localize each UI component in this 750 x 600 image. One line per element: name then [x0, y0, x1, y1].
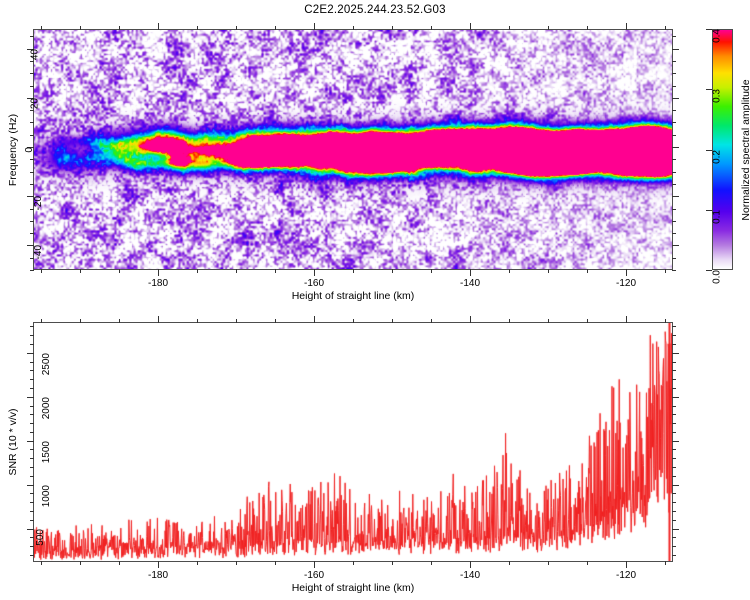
y-minor-tick: [30, 467, 34, 468]
x-major-tick: [626, 316, 627, 323]
x-minor-tick: [41, 561, 42, 565]
x-tick-label: -120: [616, 278, 636, 289]
y-minor-tick: [672, 258, 676, 259]
x-minor-tick: [509, 26, 510, 30]
y-tick-label: 0: [24, 147, 35, 153]
y-minor-tick: [672, 379, 676, 380]
y-minor-tick: [672, 209, 676, 210]
y-tick-label: -20: [33, 196, 44, 210]
y-minor-tick: [30, 61, 34, 62]
x-minor-tick: [431, 269, 432, 273]
x-major-tick: [314, 316, 315, 323]
x-minor-tick: [236, 319, 237, 323]
x-minor-tick: [392, 26, 393, 30]
y-major-tick: [672, 245, 679, 246]
x-minor-tick: [431, 26, 432, 30]
x-minor-tick: [587, 269, 588, 273]
y-major-tick: [27, 441, 34, 442]
x-minor-tick: [392, 319, 393, 323]
x-tick-label: -140: [460, 570, 480, 581]
y-major-tick: [672, 441, 679, 442]
y-minor-tick: [672, 502, 676, 503]
x-minor-tick: [236, 269, 237, 273]
x-minor-tick: [41, 319, 42, 323]
y-minor-tick: [30, 184, 34, 185]
y-minor-tick: [30, 122, 34, 123]
x-minor-tick: [431, 319, 432, 323]
y-minor-tick: [672, 423, 676, 424]
y-minor-tick: [30, 73, 34, 74]
x-minor-tick: [275, 319, 276, 323]
y-minor-tick: [672, 406, 676, 407]
y-minor-tick: [672, 122, 676, 123]
y-minor-tick: [30, 414, 34, 415]
y-minor-tick: [30, 511, 34, 512]
x-minor-tick: [665, 269, 666, 273]
y-minor-tick: [30, 335, 34, 336]
y-minor-tick: [672, 555, 676, 556]
x-major-tick: [158, 561, 159, 568]
y-minor-tick: [672, 86, 676, 87]
x-minor-tick: [587, 561, 588, 565]
x-major-tick: [626, 23, 627, 30]
x-minor-tick: [548, 26, 549, 30]
y-tick-label: 2000: [41, 397, 52, 419]
y-minor-tick: [672, 432, 676, 433]
x-minor-tick: [587, 26, 588, 30]
y-major-tick: [672, 147, 679, 148]
y-minor-tick: [672, 476, 676, 477]
y-minor-tick: [672, 370, 676, 371]
x-minor-tick: [665, 26, 666, 30]
y-minor-tick: [672, 537, 676, 538]
x-minor-tick: [548, 319, 549, 323]
y-minor-tick: [30, 159, 34, 160]
y-minor-tick: [672, 335, 676, 336]
y-tick-label: 1500: [41, 441, 52, 463]
x-minor-tick: [275, 269, 276, 273]
x-tick-label: -160: [304, 278, 324, 289]
y-major-tick: [672, 98, 679, 99]
y-minor-tick: [672, 61, 676, 62]
x-minor-tick: [197, 561, 198, 565]
x-minor-tick: [197, 319, 198, 323]
x-minor-tick: [119, 269, 120, 273]
y-minor-tick: [30, 110, 34, 111]
y-minor-tick: [30, 172, 34, 173]
x-major-tick: [470, 316, 471, 323]
y-minor-tick: [672, 270, 676, 271]
x-tick-label: -180: [148, 278, 168, 289]
y-minor-tick: [30, 406, 34, 407]
y-minor-tick: [672, 73, 676, 74]
x-minor-tick: [275, 26, 276, 30]
x-minor-tick: [548, 561, 549, 565]
x-minor-tick: [353, 319, 354, 323]
y-minor-tick: [30, 370, 34, 371]
colorbar-tick-label: 0.3: [711, 89, 722, 103]
y-minor-tick: [672, 344, 676, 345]
x-major-tick: [626, 561, 627, 568]
x-major-tick: [314, 561, 315, 568]
y-tick-label: 2500: [41, 353, 52, 375]
y-minor-tick: [30, 362, 34, 363]
y-tick-label: 40: [30, 49, 41, 60]
colorbar-tick-label: 0.0: [711, 270, 722, 284]
x-minor-tick: [197, 269, 198, 273]
snr-trace: [34, 323, 672, 561]
colorbar-tick-label: 0.4: [711, 29, 722, 43]
y-minor-tick: [672, 546, 676, 547]
spectrogram-panel: [33, 29, 673, 270]
x-major-tick: [158, 269, 159, 276]
y-minor-tick: [672, 326, 676, 327]
y-major-tick: [672, 397, 679, 398]
y-minor-tick: [672, 233, 676, 234]
y-minor-tick: [672, 493, 676, 494]
x-minor-tick: [80, 269, 81, 273]
y-minor-tick: [672, 159, 676, 160]
x-minor-tick: [80, 319, 81, 323]
y-axis-title: Frequency (Hz): [7, 113, 19, 185]
x-major-tick: [158, 316, 159, 323]
x-minor-tick: [548, 269, 549, 273]
y-major-tick: [672, 485, 679, 486]
y-minor-tick: [672, 184, 676, 185]
x-minor-tick: [197, 26, 198, 30]
x-minor-tick: [587, 319, 588, 323]
x-minor-tick: [80, 26, 81, 30]
colorbar-label: Normalized spectral amplitude: [740, 79, 750, 220]
y-minor-tick: [672, 110, 676, 111]
y-minor-tick: [30, 449, 34, 450]
y-minor-tick: [672, 458, 676, 459]
y-minor-tick: [30, 432, 34, 433]
x-major-tick: [314, 23, 315, 30]
y-minor-tick: [672, 135, 676, 136]
y-minor-tick: [30, 36, 34, 37]
y-minor-tick: [30, 270, 34, 271]
y-tick-label: 1000: [41, 485, 52, 507]
y-minor-tick: [672, 362, 676, 363]
y-minor-tick: [672, 221, 676, 222]
x-minor-tick: [392, 561, 393, 565]
x-minor-tick: [41, 269, 42, 273]
figure-root: C2E2.2025.244.23.52.G03 -180-160-140-120…: [0, 0, 750, 600]
x-minor-tick: [509, 561, 510, 565]
y-minor-tick: [30, 520, 34, 521]
y-minor-tick: [672, 520, 676, 521]
x-tick-label: -120: [616, 570, 636, 581]
y-tick-label: 500: [35, 529, 46, 546]
x-tick-label: -180: [148, 570, 168, 581]
spectrogram-image: [34, 30, 672, 269]
x-major-tick: [470, 561, 471, 568]
x-minor-tick: [392, 269, 393, 273]
x-minor-tick: [275, 561, 276, 565]
y-minor-tick: [30, 233, 34, 234]
x-minor-tick: [353, 269, 354, 273]
y-minor-tick: [30, 546, 34, 547]
x-minor-tick: [119, 561, 120, 565]
y-major-tick: [27, 353, 34, 354]
y-minor-tick: [30, 388, 34, 389]
x-minor-tick: [119, 26, 120, 30]
y-major-tick: [672, 49, 679, 50]
y-minor-tick: [672, 467, 676, 468]
x-minor-tick: [665, 561, 666, 565]
x-minor-tick: [665, 319, 666, 323]
y-axis-title: SNR (10 * v/v): [7, 408, 19, 475]
y-major-tick: [27, 529, 34, 530]
y-minor-tick: [30, 86, 34, 87]
y-major-tick: [672, 353, 679, 354]
x-major-tick: [470, 269, 471, 276]
colorbar-tick-label: 0.2: [711, 150, 722, 164]
snr-panel: [33, 322, 673, 562]
x-minor-tick: [41, 26, 42, 30]
page-title: C2E2.2025.244.23.52.G03: [0, 4, 750, 16]
y-minor-tick: [30, 458, 34, 459]
y-minor-tick: [30, 135, 34, 136]
x-major-tick: [314, 269, 315, 276]
y-minor-tick: [30, 379, 34, 380]
y-minor-tick: [672, 172, 676, 173]
y-major-tick: [27, 397, 34, 398]
x-minor-tick: [509, 319, 510, 323]
x-major-tick: [626, 269, 627, 276]
y-minor-tick: [672, 388, 676, 389]
y-major-tick: [672, 529, 679, 530]
x-major-tick: [470, 23, 471, 30]
x-tick-label: -160: [304, 570, 324, 581]
colorbar-tick-label: 0.1: [711, 210, 722, 224]
x-minor-tick: [509, 269, 510, 273]
x-minor-tick: [236, 26, 237, 30]
y-minor-tick: [30, 344, 34, 345]
x-minor-tick: [353, 26, 354, 30]
y-major-tick: [27, 485, 34, 486]
y-minor-tick: [30, 423, 34, 424]
x-minor-tick: [353, 561, 354, 565]
y-minor-tick: [30, 502, 34, 503]
y-minor-tick: [30, 326, 34, 327]
y-tick-label: -40: [33, 245, 44, 259]
y-minor-tick: [672, 414, 676, 415]
x-minor-tick: [236, 561, 237, 565]
x-axis-title: Height of straight line (km): [292, 290, 415, 302]
y-minor-tick: [30, 476, 34, 477]
y-major-tick: [672, 196, 679, 197]
x-minor-tick: [80, 561, 81, 565]
y-tick-label: 20: [30, 98, 41, 109]
y-minor-tick: [30, 221, 34, 222]
y-minor-tick: [672, 511, 676, 512]
x-tick-label: -140: [460, 278, 480, 289]
y-minor-tick: [672, 36, 676, 37]
y-minor-tick: [30, 555, 34, 556]
x-minor-tick: [119, 319, 120, 323]
x-axis-title: Height of straight line (km): [292, 582, 415, 594]
x-major-tick: [158, 23, 159, 30]
y-minor-tick: [672, 449, 676, 450]
y-minor-tick: [30, 493, 34, 494]
x-minor-tick: [431, 561, 432, 565]
y-minor-tick: [30, 537, 34, 538]
